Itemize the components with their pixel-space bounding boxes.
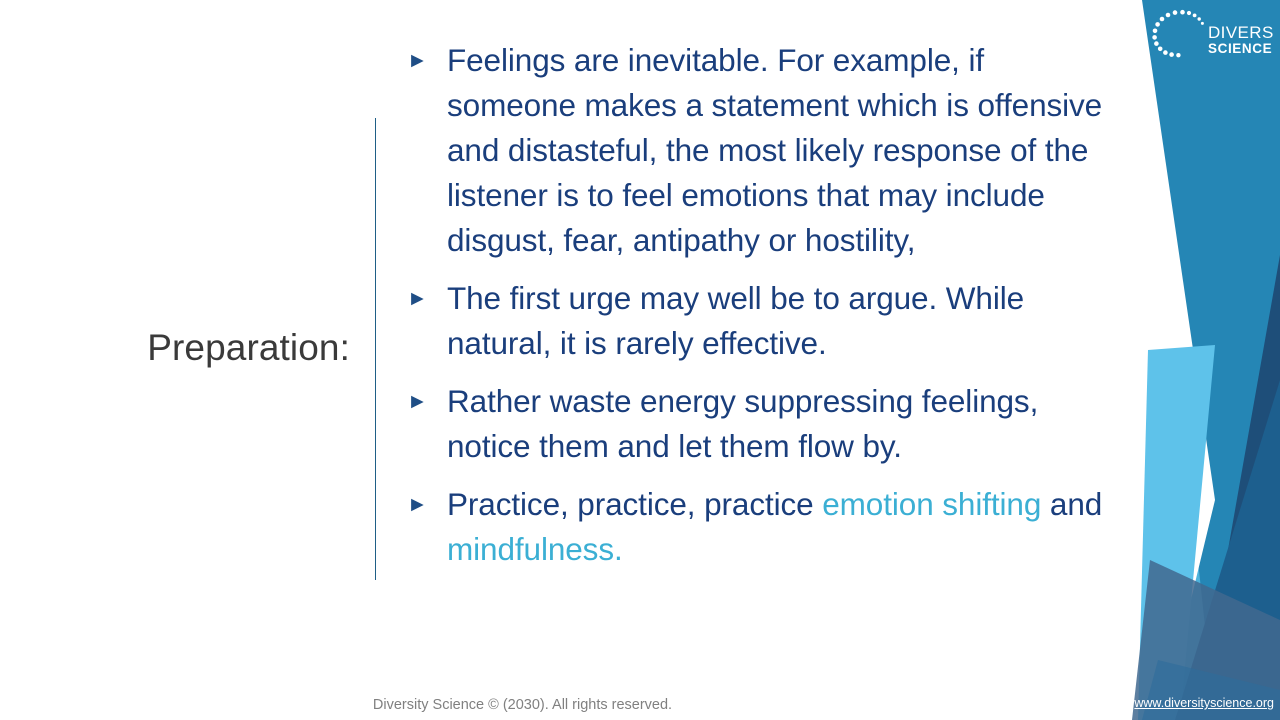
slide-canvas: DIVERSITY SCIENCE Preparation: ► Feeling… [0, 0, 1280, 720]
page-title: Preparation: [40, 325, 350, 371]
bullet-segment: Practice, practice, practice [447, 486, 822, 522]
list-item: ► Feelings are inevitable. For example, … [406, 38, 1118, 263]
bullet-text: Feelings are inevitable. For example, if… [447, 38, 1118, 263]
bullet-triangle-icon: ► [406, 276, 447, 321]
bullet-text: Rather waste energy suppressing feelings… [447, 379, 1118, 469]
bullet-list: ► Feelings are inevitable. For example, … [406, 38, 1118, 572]
list-item: ► The first urge may well be to argue. W… [406, 276, 1118, 366]
bullet-triangle-icon: ► [406, 38, 447, 83]
vertical-divider [375, 118, 376, 580]
copyright-notice: Diversity Science © (2030). All rights r… [0, 697, 1045, 713]
list-item: ► Rather waste energy suppressing feelin… [406, 379, 1118, 469]
bullet-triangle-icon: ► [406, 379, 447, 424]
bullet-segment-highlight: mindfulness. [447, 531, 623, 567]
bullet-segment: and [1041, 486, 1102, 522]
decorative-triangles [1120, 0, 1280, 720]
bullet-triangle-icon: ► [406, 482, 447, 527]
bullet-text: Practice, practice, practice emotion shi… [447, 482, 1118, 572]
bullet-segment: Rather waste energy suppressing feelings… [447, 383, 1038, 464]
bullet-segment: The first urge may well be to argue. Whi… [447, 280, 1024, 361]
list-item: ► Practice, practice, practice emotion s… [406, 482, 1118, 572]
website-link[interactable]: www.diversityscience.org [1134, 696, 1274, 710]
bullet-segment: Feelings are inevitable. For example, if… [447, 42, 1102, 258]
bullet-text: The first urge may well be to argue. Whi… [447, 276, 1118, 366]
bullet-segment-highlight: emotion shifting [822, 486, 1041, 522]
